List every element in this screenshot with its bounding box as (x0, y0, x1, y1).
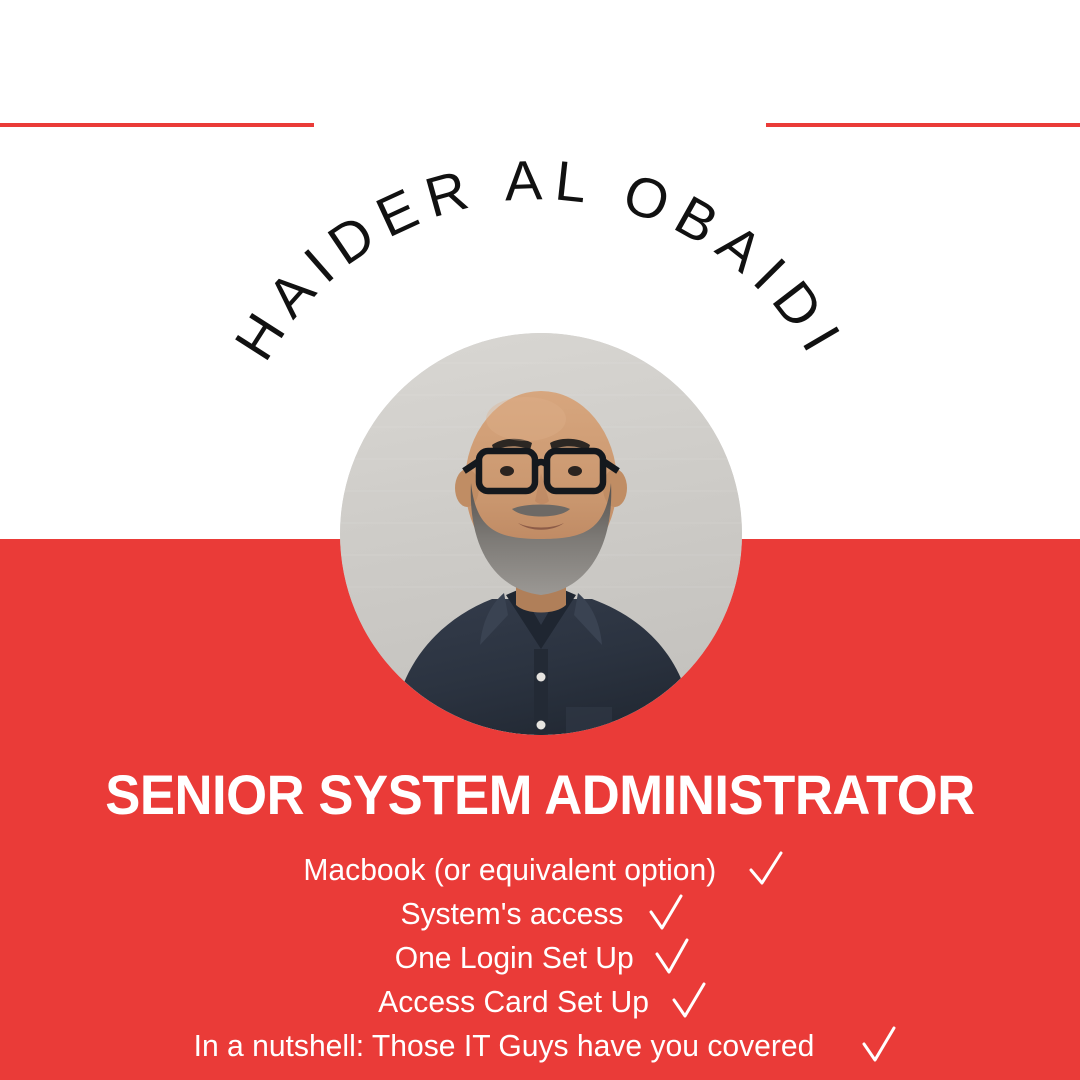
checklist-item-label: Access Card Set Up (379, 984, 650, 1020)
divider-rule-right (766, 123, 1080, 127)
checklist: Macbook (or equivalent option) System's … (0, 848, 1080, 1068)
checklist-item-label: In a nutshell: Those IT Guys have you co… (194, 1028, 815, 1064)
divider-rule-left (0, 123, 314, 127)
check-icon (749, 850, 783, 890)
list-item: One Login Set Up (391, 936, 689, 980)
checklist-item-label: Macbook (or equivalent option) (304, 852, 717, 888)
checklist-item-label: System's access (401, 896, 624, 932)
list-item: Macbook (or equivalent option) (297, 848, 783, 892)
portrait-illustration (340, 333, 742, 735)
page-title: SENIOR SYSTEM ADMINISTRATOR (32, 762, 1047, 827)
list-item: System's access (397, 892, 683, 936)
poster-canvas: HAIDER AL OBAIDI (0, 0, 1080, 1080)
check-icon (862, 1026, 896, 1066)
checklist-item-label: One Login Set Up (394, 940, 633, 976)
list-item: Access Card Set Up (374, 980, 705, 1024)
check-icon (649, 894, 683, 934)
check-icon (672, 982, 706, 1022)
avatar (340, 333, 742, 735)
list-item: In a nutshell: Those IT Guys have you co… (184, 1024, 896, 1068)
check-icon (655, 938, 689, 978)
